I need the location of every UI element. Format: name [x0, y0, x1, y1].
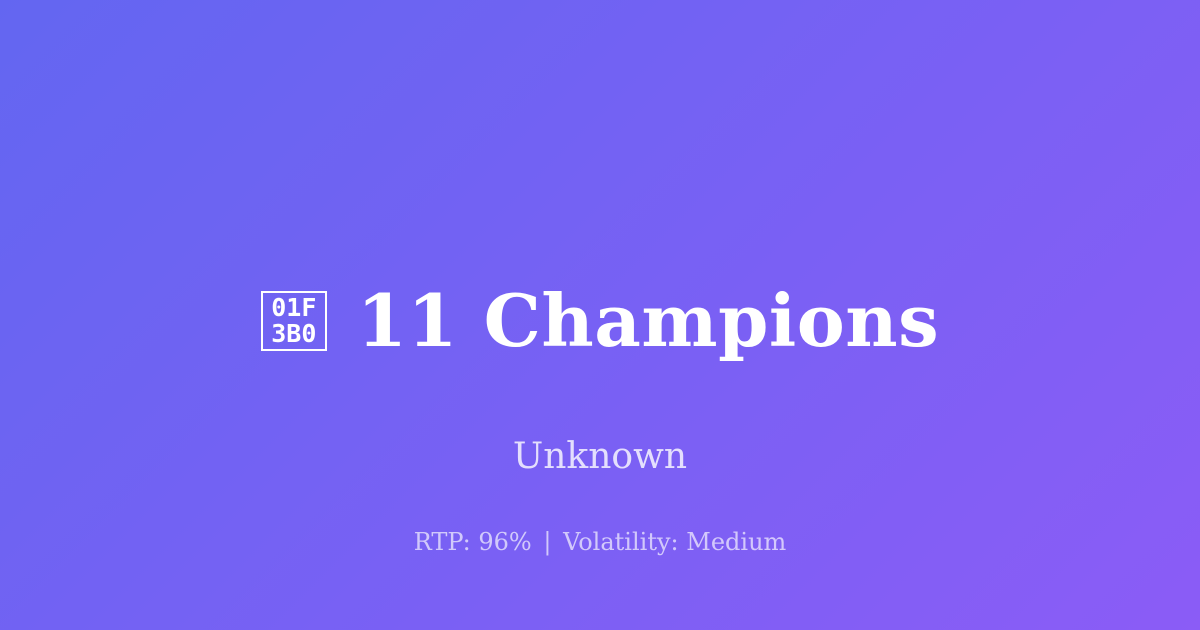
game-provider-subtitle: Unknown [513, 435, 687, 479]
volatility-label: Volatility: [563, 528, 679, 556]
hero-block: 01F 3B0 11 Champions Unknown [0, 231, 1200, 479]
slot-machine-icon-codepoint-low: 3B0 [271, 321, 316, 347]
game-stats-line: RTP: 96% | Volatility: Medium [0, 527, 1200, 557]
page-title: 11 Champions [357, 279, 939, 363]
title-row: 01F 3B0 11 Champions [261, 231, 939, 411]
rtp-value: 96% [478, 528, 531, 556]
slot-machine-icon: 01F 3B0 [261, 291, 327, 351]
game-og-card: 01F 3B0 11 Champions Unknown RTP: 96% | … [0, 0, 1200, 630]
volatility-value: Medium [686, 528, 786, 556]
rtp-label: RTP: [414, 528, 471, 556]
slot-machine-icon-codepoint-high: 01F [271, 295, 316, 321]
stats-separator: | [539, 528, 555, 556]
